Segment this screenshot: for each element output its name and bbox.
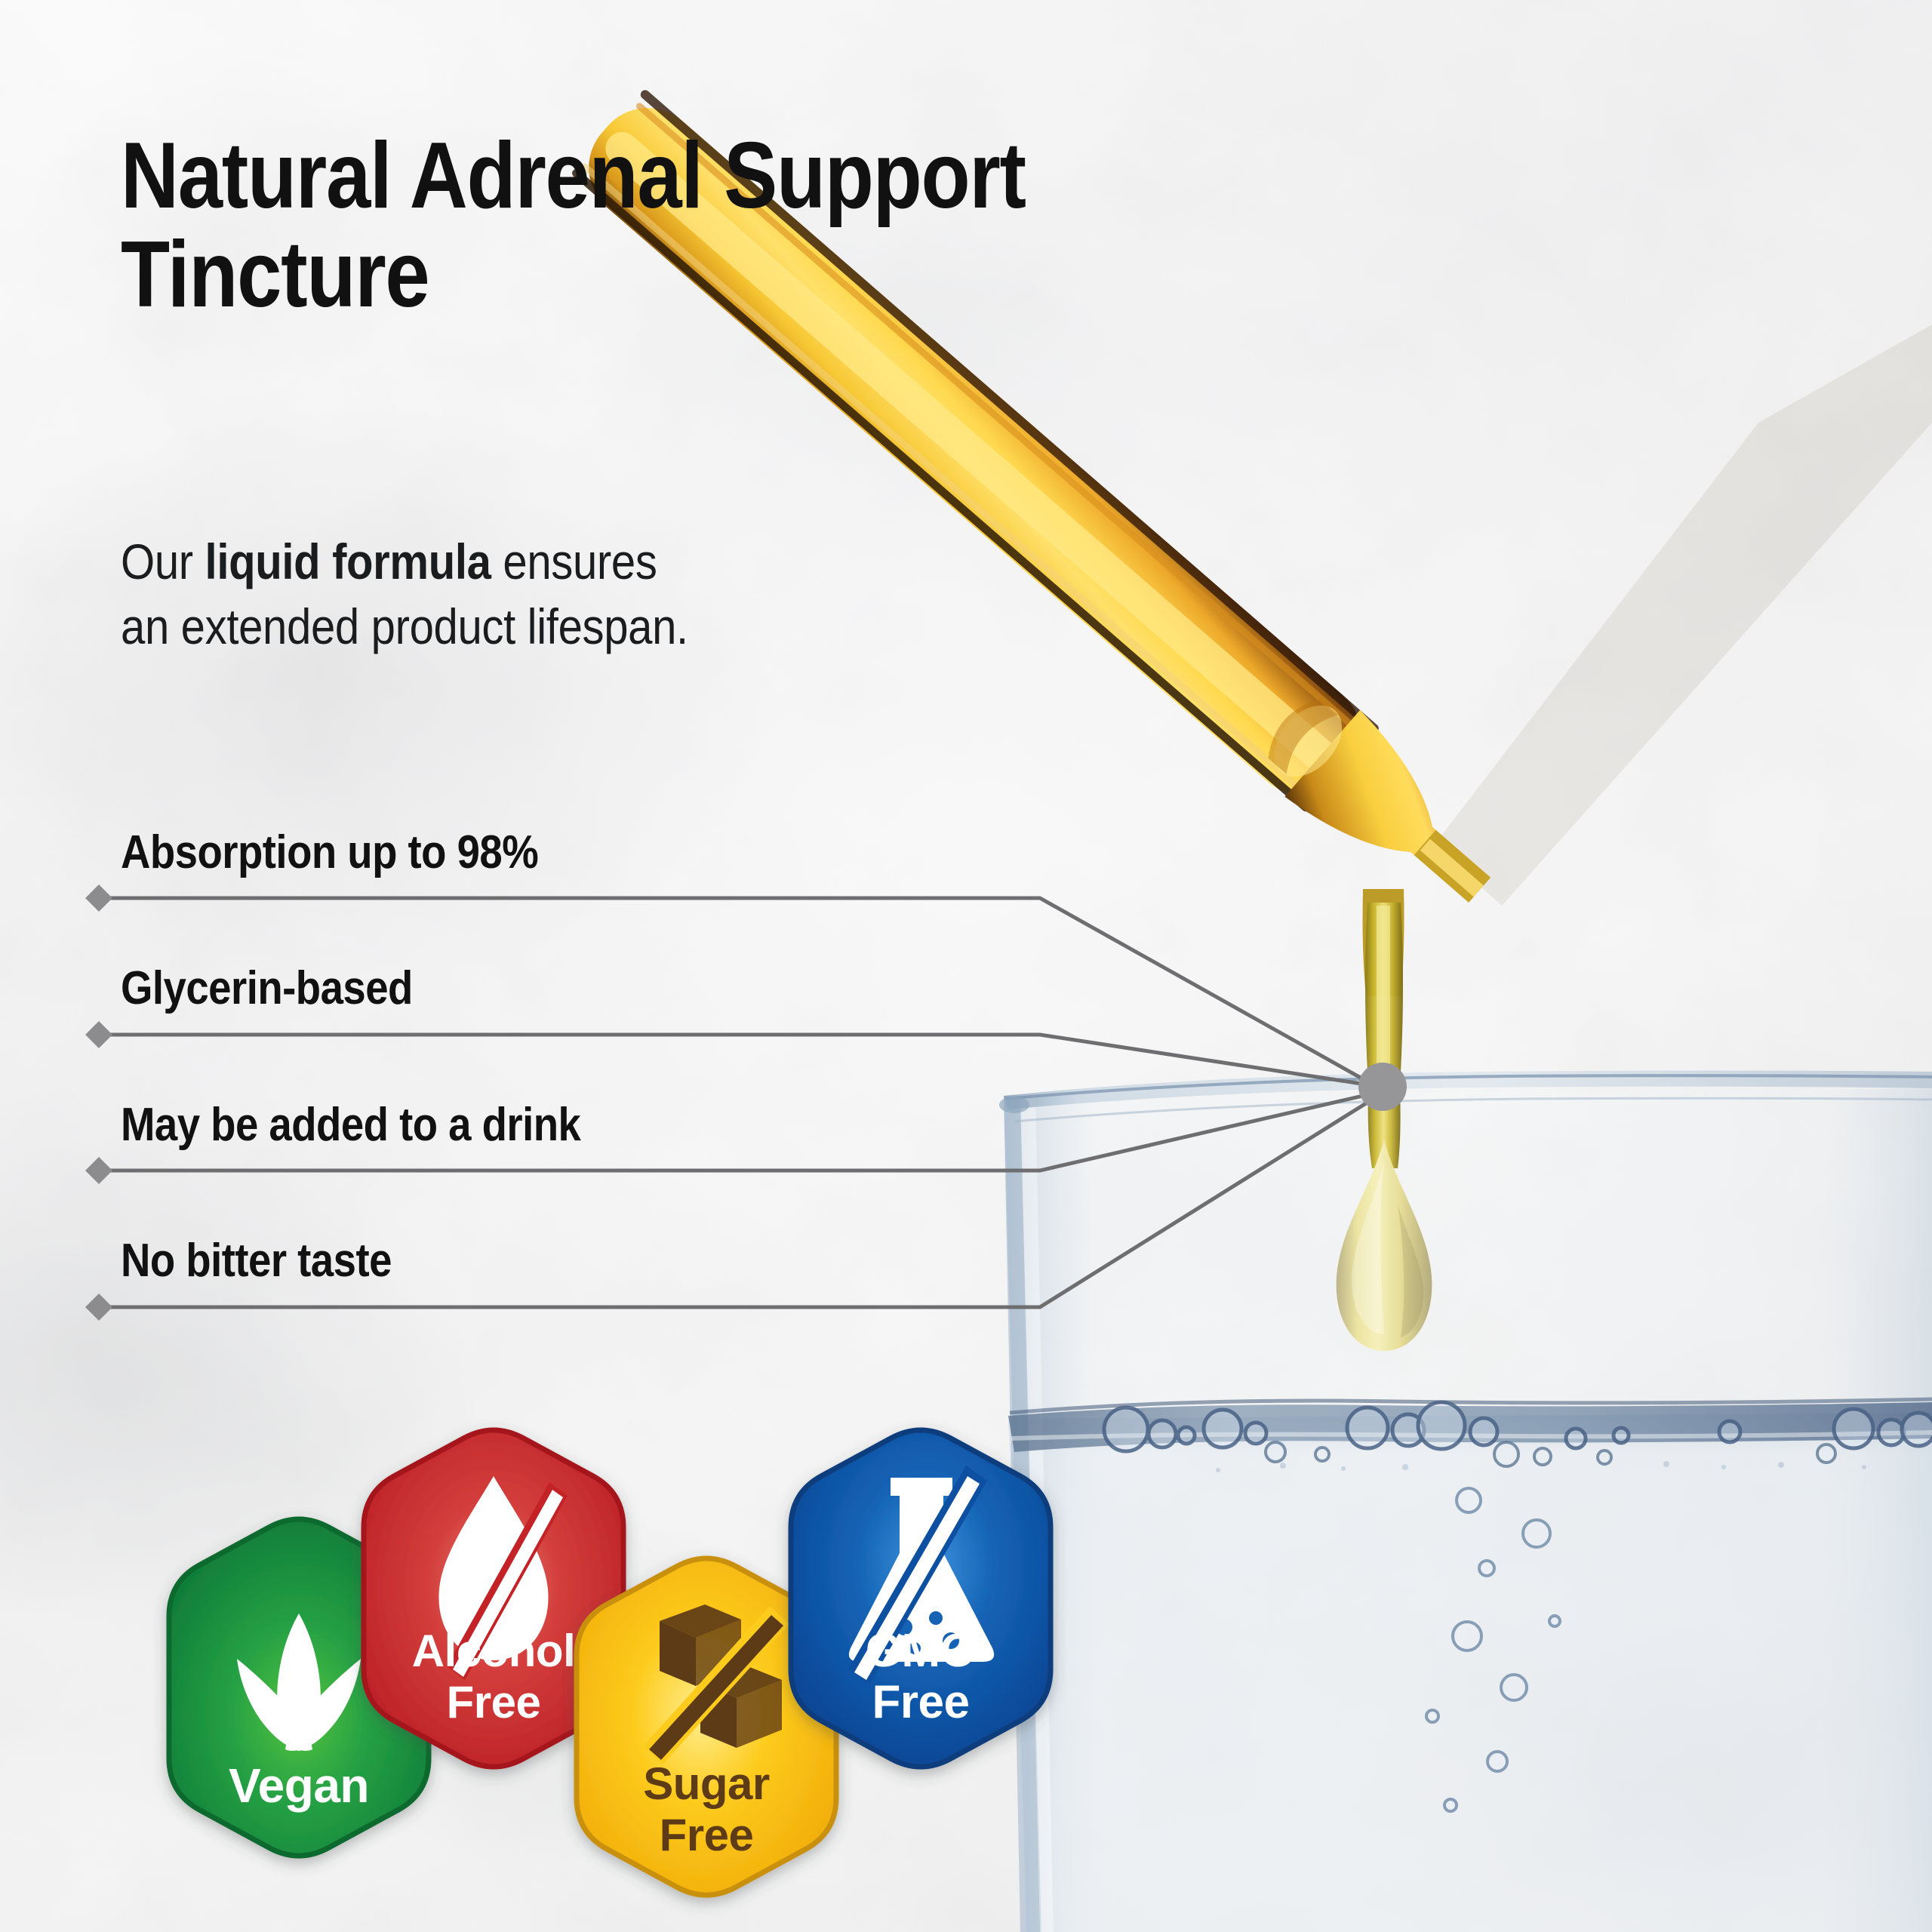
infographic-canvas: Natural Adrenal Support Tincture Our liq… (0, 0, 1932, 1932)
badge-alcohol-free-line1: Alcohol (412, 1626, 576, 1676)
certification-badges: Vegan Alcohol Free (0, 0, 1932, 1932)
badge-alcohol-free-line2: Free (447, 1677, 541, 1727)
badge-vegan-label: Vegan (229, 1758, 369, 1813)
badge-gmo-free[interactable]: GMO Free (791, 1430, 1051, 1767)
badge-sugar-free-line1: Sugar (643, 1758, 770, 1809)
badge-sugar-free-line2: Free (660, 1810, 754, 1860)
badge-gmo-free-line1: GMO (866, 1625, 977, 1677)
badge-gmo-free-line2: Free (872, 1676, 970, 1728)
